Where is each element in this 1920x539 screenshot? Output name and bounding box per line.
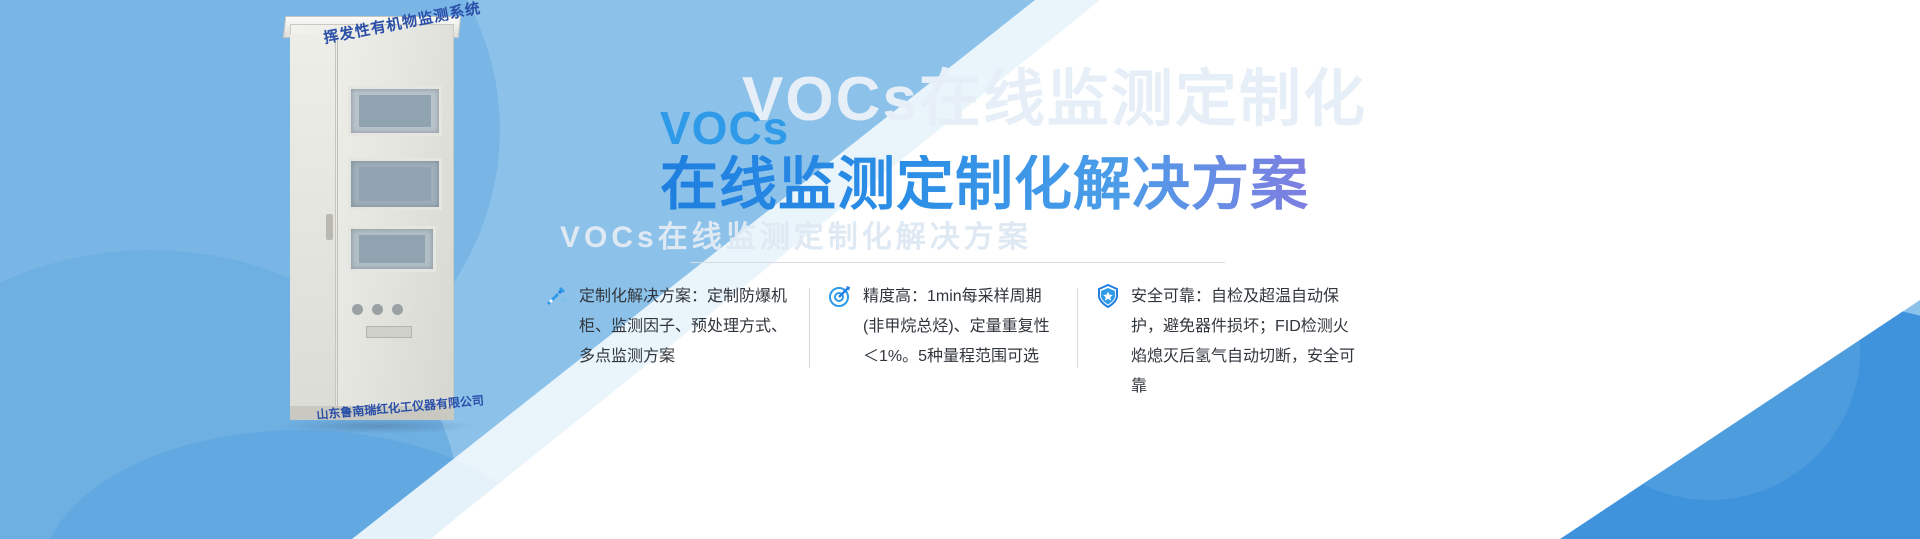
product-image: 挥发性有机物监测系统 山东鲁南瑞红化工仪器有限公司 <box>268 8 484 428</box>
instrument-display-2 <box>348 158 442 210</box>
headline-chinese: 在线监测定制化解决方案 <box>660 155 1309 216</box>
shield-star-icon <box>1095 283 1121 309</box>
feature-item-precision: 精度高：1min每采样周期(非甲烷总烃)、定量重复性＜1%。5种量程范围可选 <box>809 282 1077 372</box>
feature-text: 定制化解决方案：定制防爆机柜、监测因子、预处理方式、多点监测方案 <box>579 282 791 372</box>
target-arrow-icon <box>827 283 853 309</box>
headline-english: VOCs <box>660 105 1309 151</box>
pencil-ruler-icon <box>543 283 569 309</box>
cabinet-door-seam <box>337 34 338 414</box>
control-knobs <box>352 304 436 318</box>
feature-text: 安全可靠：自检及超温自动保护，避免器件损坏；FID检测火焰熄灭后氢气自动切断，安… <box>1131 282 1355 402</box>
headline-block: VOCs 在线监测定制化解决方案 <box>660 105 1309 216</box>
headline-divider <box>690 262 1225 263</box>
display-inner <box>359 95 431 127</box>
knob <box>392 304 403 315</box>
instrument-display-1 <box>348 86 442 136</box>
feature-text: 精度高：1min每采样周期(非甲烷总烃)、定量重复性＜1%。5种量程范围可选 <box>863 282 1059 372</box>
feature-item-safety: 安全可靠：自检及超温自动保护，避免器件损坏；FID检测火焰熄灭后氢气自动切断，安… <box>1077 282 1373 402</box>
knob <box>372 304 383 315</box>
cabinet-handle <box>326 214 333 240</box>
cabinet-vent-slot <box>366 326 412 338</box>
vocs-promo-banner: VOCs在线监测定制化 VOCs在线监测定制化解决方案 挥发性有机物监测系统 山… <box>0 0 1920 539</box>
product-shadow <box>278 418 478 434</box>
knob <box>352 304 363 315</box>
feature-list: 定制化解决方案：定制防爆机柜、监测因子、预处理方式、多点监测方案 精度高：1mi… <box>525 282 1373 402</box>
display-inner <box>359 167 431 201</box>
instrument-display-3 <box>348 226 436 272</box>
display-inner <box>359 235 425 263</box>
feature-item-customization: 定制化解决方案：定制防爆机柜、监测因子、预处理方式、多点监测方案 <box>525 282 809 372</box>
watermark-bottom: VOCs在线监测定制化解决方案 <box>560 212 1032 256</box>
